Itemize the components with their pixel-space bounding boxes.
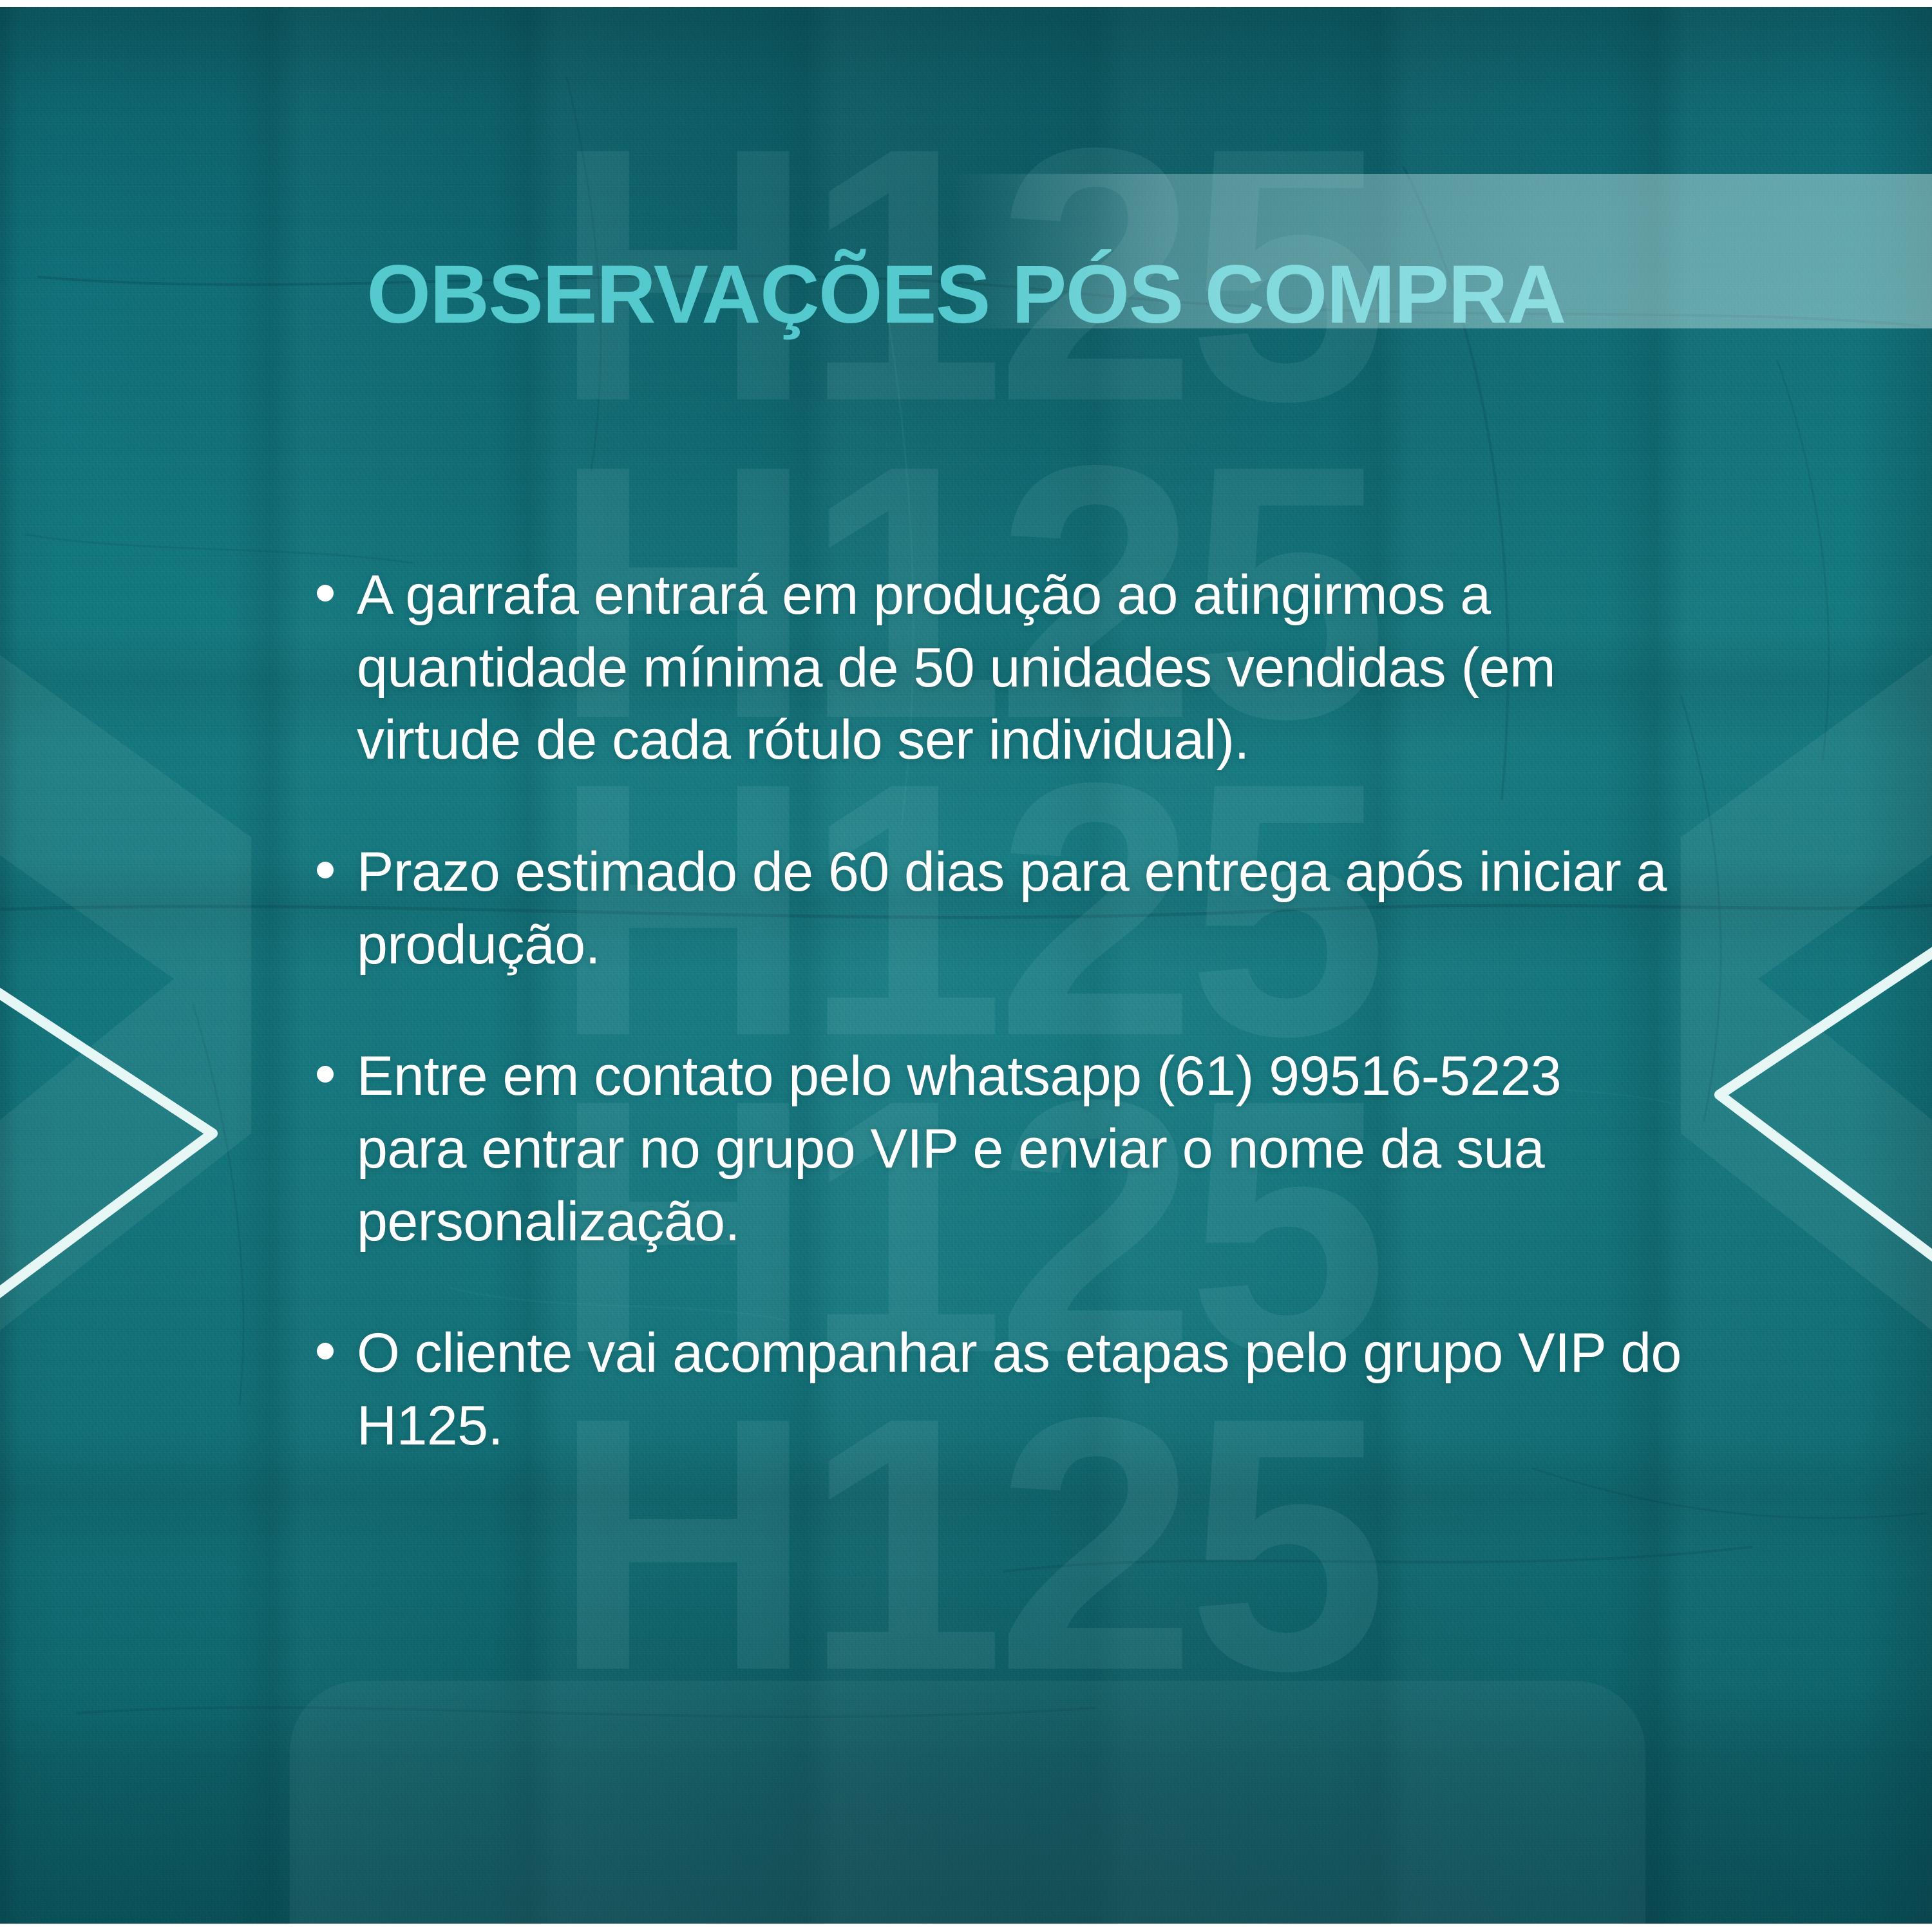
observations-list: A garrafa entrará em produção ao atingir… [317,559,1682,1463]
list-item: Entre em contato pelo whatsapp (61) 9951… [317,1040,1682,1258]
bullet-dot-icon [317,862,334,878]
top-edge-strip [0,0,1932,7]
list-item: A garrafa entrará em produção ao atingir… [317,559,1682,777]
bullet-dot-icon [317,585,334,601]
list-item-text: A garrafa entrará em produção ao atingir… [357,559,1682,777]
page-title: OBSERVAÇÕES PÓS COMPRA [0,254,1932,336]
bullet-dot-icon [317,1343,334,1359]
list-item-text: Entre em contato pelo whatsapp (61) 9951… [357,1040,1682,1258]
bottom-edge-strip [0,1924,1932,1932]
bullet-dot-icon [317,1066,334,1083]
list-item-text: Prazo estimado de 60 dias para entrega a… [357,836,1682,981]
list-item-text: O cliente vai acompanhar as etapas pelo … [357,1317,1682,1462]
list-item: Prazo estimado de 60 dias para entrega a… [317,836,1682,981]
list-item: O cliente vai acompanhar as etapas pelo … [317,1317,1682,1462]
slide-canvas: H125 H125 H125 H125 H125 OBSERVAÇÕES PÓS… [0,0,1932,1932]
